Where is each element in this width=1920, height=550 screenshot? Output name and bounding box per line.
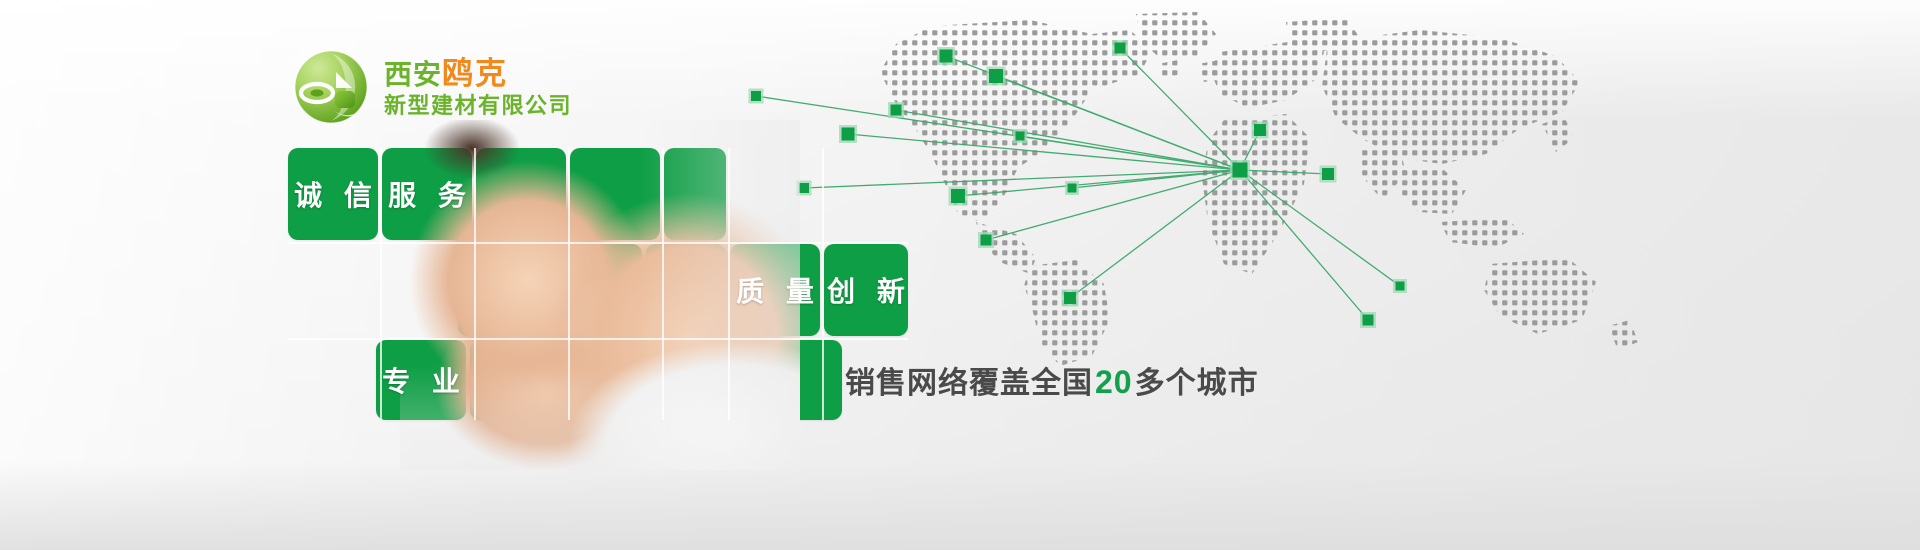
banner-bottom-fade [0,460,1920,550]
value-tile-label: 专 业 [376,340,466,420]
map-marker [839,125,857,143]
value-tile-labels: 诚 信服 务质 量创 新专 业 [288,148,908,420]
map-marker [1062,290,1079,307]
globe-emblem-icon [292,48,370,126]
map-marker [987,67,1006,86]
map-marker [1320,166,1337,183]
sales-network-tagline: 销售网络覆盖全国20多个城市 [845,358,1259,402]
logo-city-name: 西安 [384,59,442,90]
tagline-suffix: 多个城市 [1135,367,1259,400]
value-tile-label: 质 量 [730,244,820,336]
map-marker [949,187,968,206]
map-marker [1112,40,1128,56]
map-marker [888,102,904,118]
logo-primary-line: 西安鸥克 [384,57,572,91]
value-tile-label: 创 新 [824,244,908,336]
logo-secondary-line: 新型建材有限公司 [384,93,572,119]
map-marker [1065,181,1079,195]
tagline-highlight-number: 20 [1093,364,1135,400]
value-tile-label: 服 务 [382,148,472,240]
map-marker [1360,312,1376,328]
map-marker [1252,122,1269,139]
map-connection-line [986,170,1240,240]
map-continents [880,12,1638,366]
tagline-prefix: 销售网络覆盖全国 [845,367,1093,400]
logo-text-block: 西安鸥克 新型建材有限公司 [384,55,572,119]
map-marker [749,89,764,104]
hero-banner: 诚 信服 务质 量创 新专 业 [0,0,1920,550]
value-tile-label: 诚 信 [288,148,378,240]
map-marker [1393,279,1407,293]
map-marker [937,47,955,65]
logo-brand-name: 鸥克 [442,56,508,91]
company-logo[interactable]: 西安鸥克 新型建材有限公司 [292,48,572,126]
map-marker [1013,129,1027,143]
hub-marker-xian [1230,160,1250,180]
map-marker [978,232,994,248]
